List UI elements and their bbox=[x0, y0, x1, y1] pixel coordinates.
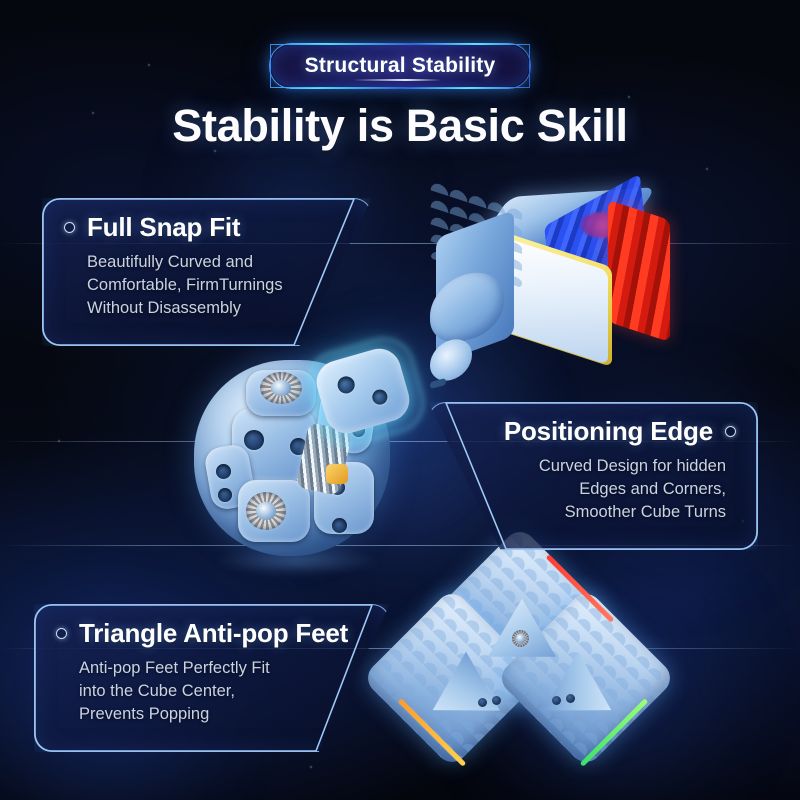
card-description-line: into the Cube Center, bbox=[79, 680, 368, 703]
card-description-line: Smoother Cube Turns bbox=[450, 501, 726, 524]
core-hole bbox=[216, 464, 231, 479]
card-description: Curved Design for hidden Edges and Corne… bbox=[450, 455, 736, 523]
card-content: Positioning Edge Curved Design for hidde… bbox=[450, 416, 736, 523]
card-description-line: Comfortable, FirmTurnings bbox=[87, 274, 350, 297]
circle-marker-icon bbox=[56, 628, 67, 639]
card-description-line: Beautifully Curved and bbox=[87, 251, 350, 274]
card-description-line: Curved Design for hidden bbox=[450, 455, 726, 478]
badge-underline-accent bbox=[353, 79, 441, 81]
card-description-line: Edges and Corners, bbox=[450, 478, 726, 501]
card-header: Full Snap Fit bbox=[64, 212, 350, 243]
foot-hole bbox=[566, 694, 575, 703]
card-description-line: Without Disassembly bbox=[87, 297, 350, 320]
circle-marker-icon bbox=[725, 426, 736, 437]
page-title: Stability is Basic Skill bbox=[0, 100, 800, 152]
core-screw bbox=[246, 492, 286, 530]
card-title: Triangle Anti-pop Feet bbox=[79, 618, 348, 649]
card-description-line: Anti-pop Feet Perfectly Fit bbox=[79, 657, 368, 680]
card-title: Positioning Edge bbox=[504, 416, 713, 447]
core-hole bbox=[218, 488, 232, 502]
badge-container: Structural Stability bbox=[0, 44, 800, 88]
poster-stage: Structural Stability Stability is Basic … bbox=[0, 0, 800, 800]
cube-red-internals bbox=[608, 200, 670, 342]
card-header: Positioning Edge bbox=[450, 416, 736, 447]
structural-stability-badge: Structural Stability bbox=[270, 44, 531, 88]
core-spring-cap bbox=[326, 464, 348, 484]
cube-core-mechanism-image bbox=[186, 352, 432, 574]
feature-card-triangle-anti-pop-feet[interactable]: Triangle Anti-pop Feet Anti-pop Feet Per… bbox=[34, 604, 390, 752]
feature-card-positioning-edge[interactable]: Positioning Edge Curved Design for hidde… bbox=[428, 402, 758, 550]
foot-screw bbox=[512, 630, 529, 647]
badge-label: Structural Stability bbox=[305, 54, 496, 78]
core-hole bbox=[332, 518, 347, 533]
foot-hole bbox=[478, 698, 487, 707]
star-speck bbox=[628, 96, 630, 98]
feature-card-full-snap-fit[interactable]: Full Snap Fit Beautifully Curved and Com… bbox=[42, 198, 372, 346]
card-description: Anti-pop Feet Perfectly Fit into the Cub… bbox=[56, 657, 368, 725]
card-content: Triangle Anti-pop Feet Anti-pop Feet Per… bbox=[56, 618, 368, 725]
star-speck bbox=[706, 168, 708, 170]
card-description-line: Prevents Popping bbox=[79, 703, 368, 726]
star-speck bbox=[310, 766, 312, 768]
core-screw bbox=[260, 372, 302, 404]
foot-hole bbox=[492, 696, 501, 705]
exploded-cube-image bbox=[430, 188, 680, 378]
foot-hole bbox=[552, 696, 561, 705]
circle-marker-icon bbox=[64, 222, 75, 233]
card-content: Full Snap Fit Beautifully Curved and Com… bbox=[64, 212, 350, 319]
card-title: Full Snap Fit bbox=[87, 212, 240, 243]
anti-pop-corner-pieces-image bbox=[392, 578, 652, 784]
card-header: Triangle Anti-pop Feet bbox=[56, 618, 368, 649]
card-description: Beautifully Curved and Comfortable, Firm… bbox=[64, 251, 350, 319]
core-hole bbox=[244, 430, 264, 450]
core-hole bbox=[371, 388, 390, 407]
core-hole bbox=[336, 374, 357, 395]
